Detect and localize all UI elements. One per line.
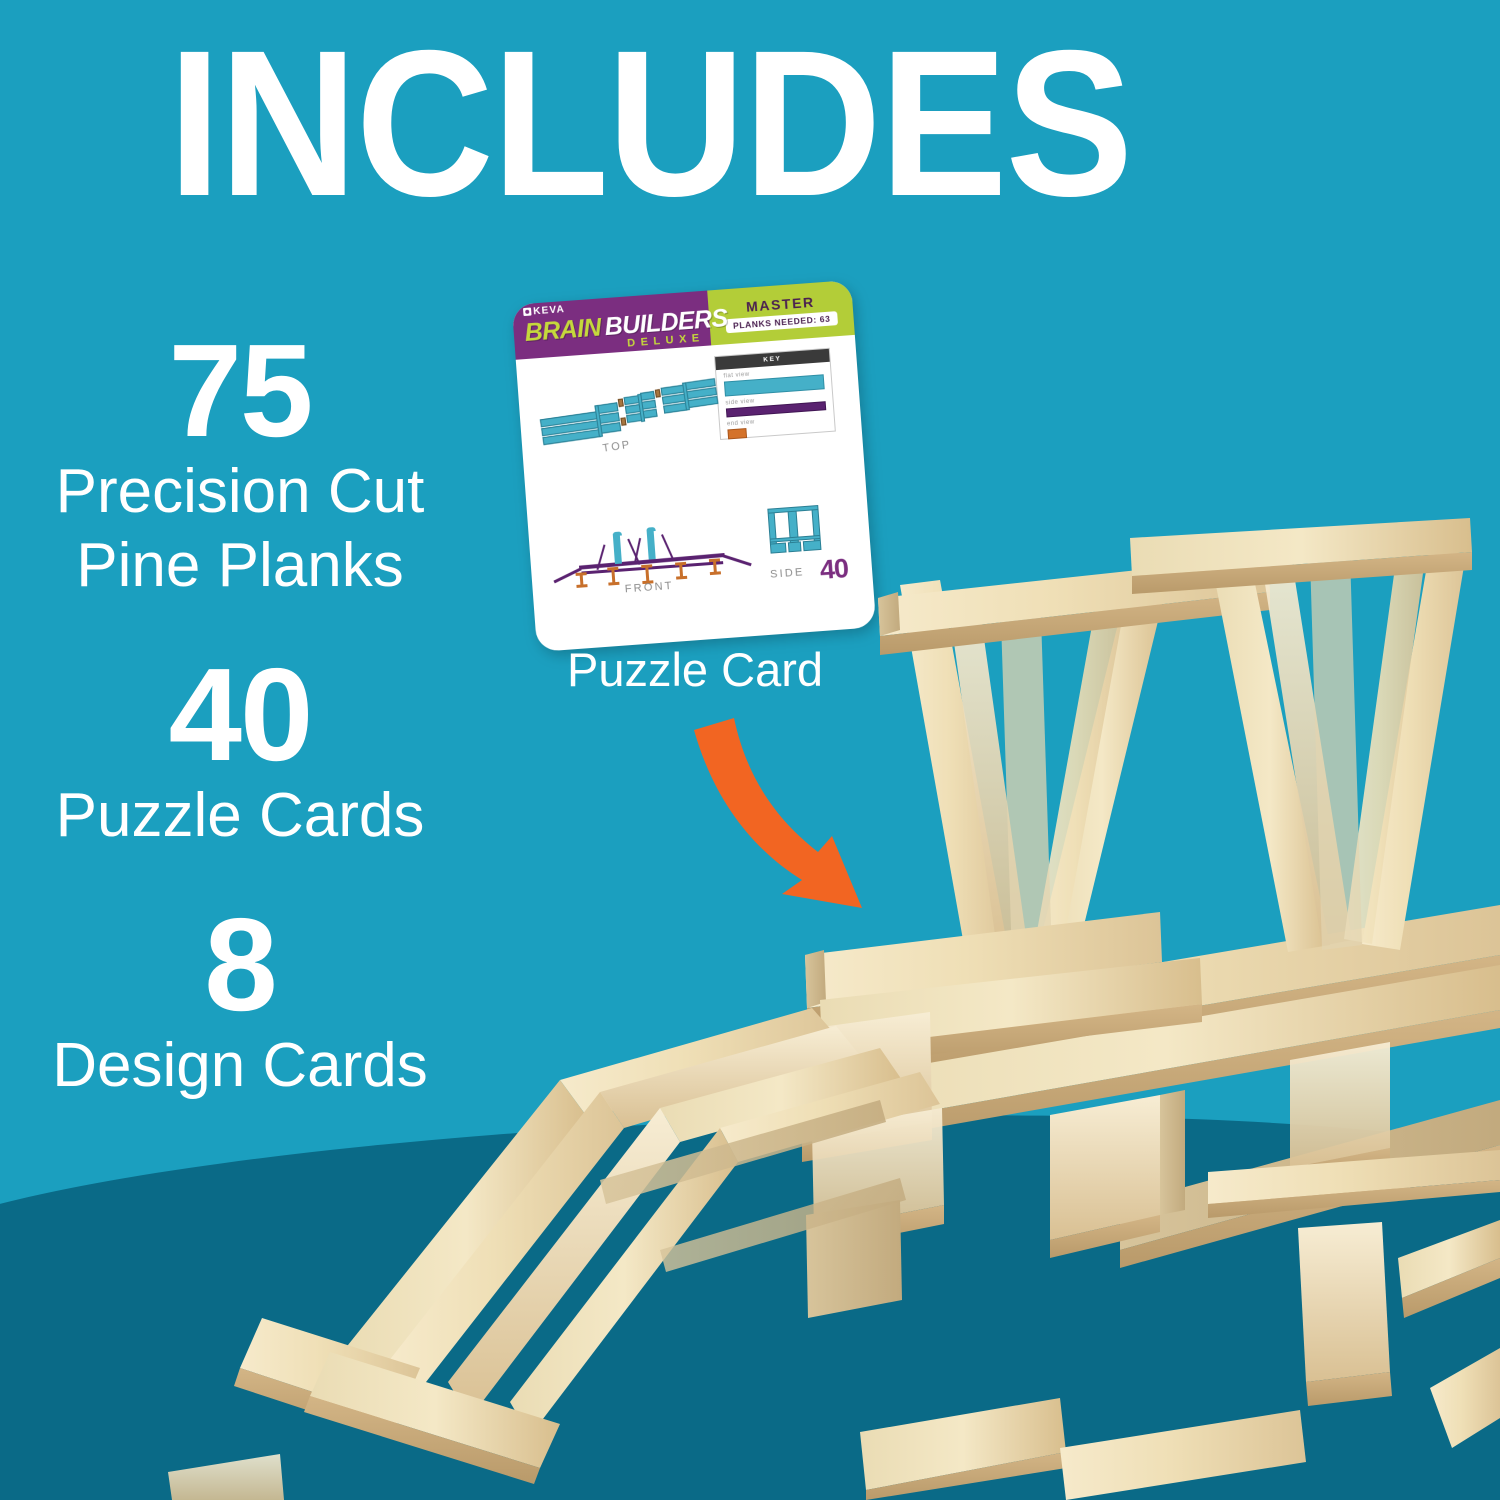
- product-feature-image: INCLUDES 75 Precision Cut Pine Planks 40…: [0, 0, 1500, 1500]
- wooden-plank-bridge-build: [0, 0, 1500, 1500]
